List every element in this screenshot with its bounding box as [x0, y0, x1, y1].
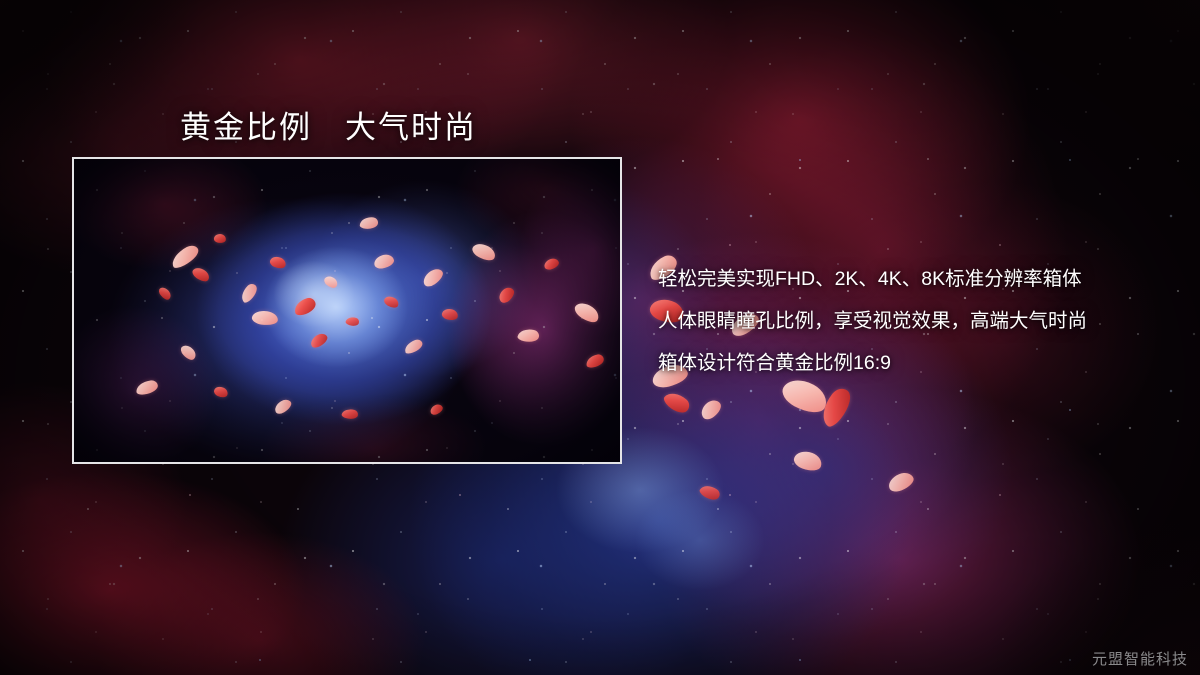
presentation-slide: 黄金比例 大气时尚 轻松完美实现FHD、2K、4K、8K标准分辨率箱体 人体眼睛…: [0, 0, 1200, 675]
body-line-2: 人体眼睛瞳孔比例，享受视觉效果，高端大气时尚: [658, 300, 1178, 342]
framed-photo: [72, 157, 622, 464]
body-text-block: 轻松完美实现FHD、2K、4K、8K标准分辨率箱体 人体眼睛瞳孔比例，享受视觉效…: [658, 258, 1178, 384]
body-line-3: 箱体设计符合黄金比例16:9: [658, 342, 1178, 384]
watermark-text: 元盟智能科技: [1092, 648, 1188, 669]
slide-title: 黄金比例 大气时尚: [180, 102, 477, 147]
body-line-1: 轻松完美实现FHD、2K、4K、8K标准分辨率箱体: [658, 258, 1178, 300]
